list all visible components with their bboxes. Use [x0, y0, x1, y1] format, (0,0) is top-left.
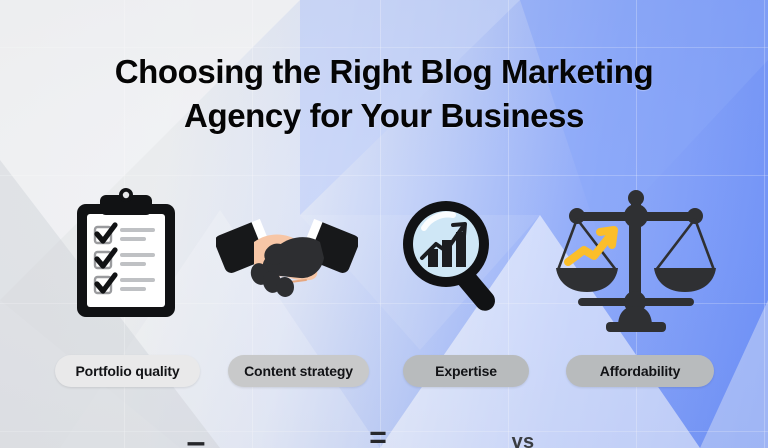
clipboard-checklist-icon — [72, 186, 180, 326]
page-title: Choosing the Right Blog Marketing Agency… — [0, 50, 768, 138]
handshake-icon — [216, 212, 358, 352]
label-pill-row: Portfolio quality Content strategy Exper… — [0, 355, 768, 389]
operator-versus: vs — [498, 427, 548, 448]
label-pill-expertise[interactable]: Expertise — [403, 355, 529, 387]
balance-scale-icon — [556, 188, 716, 328]
operator-equals: = — [358, 418, 398, 448]
operator-minus: – — [176, 422, 216, 448]
label-pill-affordability[interactable]: Affordability — [566, 355, 714, 387]
magnifier-bar-chart-icon — [398, 194, 510, 334]
label-pill-text: Portfolio quality — [75, 363, 179, 379]
icon-row: – — [0, 186, 768, 326]
label-pill-portfolio-quality[interactable]: Portfolio quality — [55, 355, 200, 387]
label-pill-content-strategy[interactable]: Content strategy — [228, 355, 369, 387]
banner-image: Choosing the Right Blog Marketing Agency… — [0, 0, 768, 448]
label-pill-text: Content strategy — [244, 363, 353, 379]
label-pill-text: Affordability — [600, 363, 681, 379]
label-pill-text: Expertise — [435, 363, 497, 379]
